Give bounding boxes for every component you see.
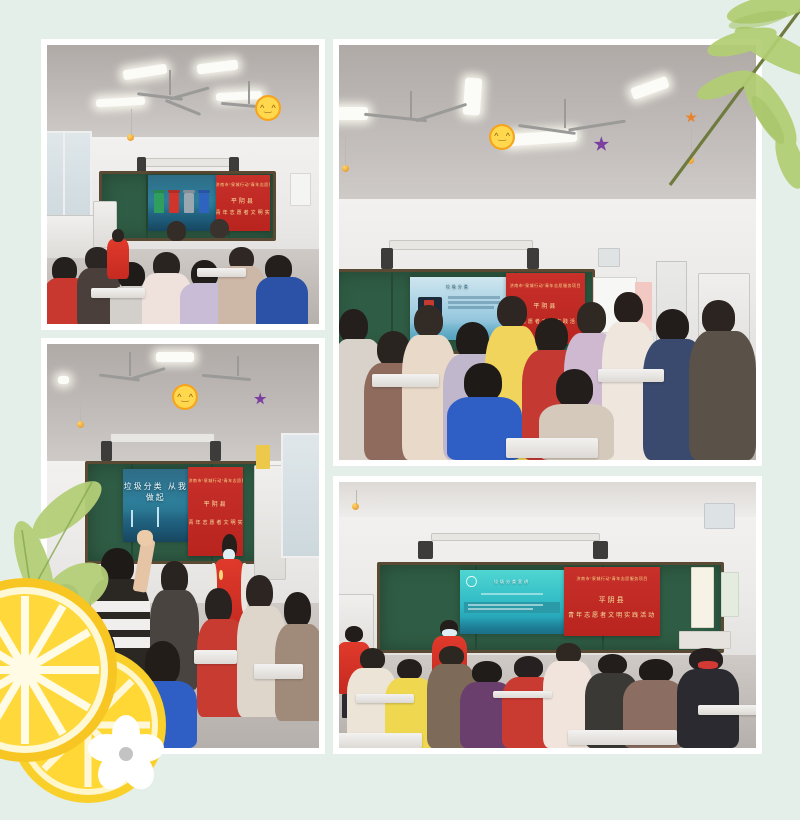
student-desk — [698, 705, 756, 715]
ceiling-fan-rod — [410, 91, 412, 120]
wall-poster — [256, 445, 270, 469]
banner-line-1: 济南市“泉城行动”青年志愿服务项目 — [564, 576, 660, 582]
wall-speaker — [418, 541, 433, 560]
sun-cutout-icon: ^‿^ — [255, 95, 281, 121]
sun-cutout-icon: ^‿^ — [489, 124, 515, 150]
student-desk — [356, 694, 414, 703]
student-group — [339, 620, 756, 748]
ceiling-fan-rod — [129, 352, 131, 376]
student-group — [339, 244, 756, 460]
ceiling-fan-rod — [248, 81, 250, 103]
wall-speaker — [101, 441, 112, 461]
photo-top-left[interactable]: ^‿^ — [41, 39, 325, 330]
ceiling-fan-rod — [564, 99, 566, 128]
banner-line-1: 济南市“泉城行动”青年志愿服务项目 — [216, 182, 270, 188]
photo-bottom-right[interactable]: 垃圾分类宣讲 济南市“泉城行动”青年志愿服务项目 平阴县 青年志愿者文明实践活动 — [333, 476, 762, 754]
wall-chart — [721, 572, 740, 617]
projector-rail — [431, 533, 600, 542]
banner-line-2: 青年志愿者文明实践活动 — [564, 610, 660, 619]
collage-canvas: ^‿^ — [0, 0, 800, 795]
volunteer-presenter — [107, 229, 129, 279]
fluorescent-tube — [58, 376, 69, 384]
fluorescent-tube — [156, 352, 194, 362]
student-group — [47, 196, 319, 324]
photo-top-right[interactable]: ^‿^ 垃圾分类 — [333, 39, 762, 466]
student-desk — [339, 733, 422, 748]
student-desk — [568, 730, 676, 745]
hanging-ornament-icon — [77, 421, 84, 428]
projector-rail — [145, 158, 231, 167]
fluorescent-tube — [463, 78, 482, 116]
banner-line-2: 青年志愿者文明实践活动 — [188, 519, 242, 526]
student-desk — [506, 438, 598, 457]
banner-title: 平阴县 — [188, 499, 242, 508]
photo-top-left-image: ^‿^ — [47, 45, 319, 324]
student-desk — [254, 664, 303, 680]
photo-bottom-right-image: 垃圾分类宣讲 济南市“泉城行动”青年志愿服务项目 平阴县 青年志愿者文明实践活动 — [339, 482, 756, 748]
ceiling-fan-rod — [169, 70, 171, 95]
student-desk — [493, 691, 551, 699]
hanging-line — [131, 109, 132, 134]
student-desk — [91, 288, 145, 298]
projector-rail — [110, 433, 215, 443]
banner-title: 平阴县 — [564, 595, 660, 605]
photo-bottom-left[interactable]: ^‿^ 垃圾分类 从我做起 — [41, 338, 325, 754]
sun-cutout-icon: ^‿^ — [172, 384, 198, 410]
screen-title: 垃圾分类 从我做起 — [123, 481, 188, 503]
photo-top-right-image: ^‿^ 垃圾分类 — [339, 45, 756, 460]
student-desk — [372, 374, 439, 387]
photo-bottom-left-image: ^‿^ 垃圾分类 从我做起 — [47, 344, 319, 748]
student-desk — [194, 650, 238, 663]
student-group — [47, 526, 319, 748]
student-desk — [197, 268, 246, 277]
ceiling-fan-rod — [237, 356, 239, 376]
student-desk — [598, 369, 665, 382]
wall-chart — [691, 567, 714, 628]
air-conditioner — [704, 503, 735, 529]
wall-speaker — [210, 441, 221, 461]
wall-speaker — [593, 541, 608, 560]
banner-line-1: 济南市“泉城行动”青年志愿服务项目 — [188, 478, 242, 484]
